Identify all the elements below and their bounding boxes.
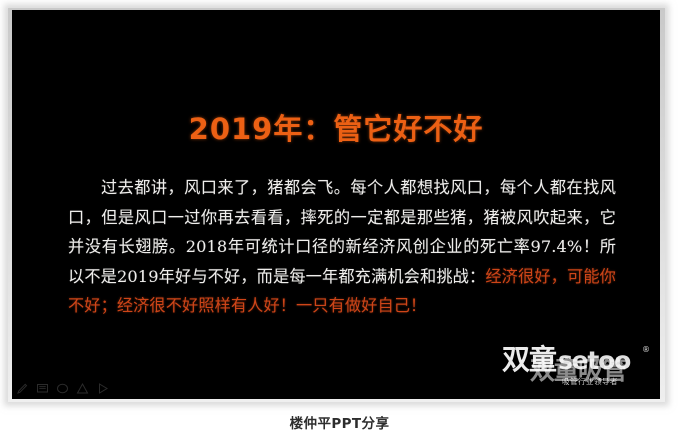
play-icon[interactable] <box>96 382 109 395</box>
caption-text: 楼仲平PPT分享 <box>0 412 679 432</box>
slide-title: 2019年：管它好不好 <box>12 114 660 146</box>
screen-icon[interactable] <box>36 382 49 395</box>
watermark-brand-latin: setoo <box>558 347 630 375</box>
pen-icon[interactable] <box>16 382 29 395</box>
ellipse-icon[interactable] <box>56 382 69 395</box>
watermark-tagline: 吸管行业领导者 <box>562 376 618 387</box>
page-root: 2019年：管它好不好 过去都讲，风口来了，猪都会飞。每个人都想找风口，每个人都… <box>0 0 679 442</box>
slide-canvas: 2019年：管它好不好 过去都讲，风口来了，猪都会飞。每个人都想找风口，每个人都… <box>12 10 660 399</box>
registered-trademark-icon: ® <box>642 345 650 354</box>
slide-body-text: 过去都讲，风口来了，猪都会飞。每个人都想找风口，每个人都在找风口，但是风口一过你… <box>68 173 616 321</box>
triangle-icon[interactable] <box>76 382 89 395</box>
watermark-layer: 双童 双童吸管 setoo ® 吸管行业领导者 <box>500 343 650 389</box>
presenter-annotation-toolbar[interactable] <box>16 382 109 395</box>
watermark-logo: 双童 双童吸管 setoo ® 吸管行业领导者 <box>500 343 650 389</box>
